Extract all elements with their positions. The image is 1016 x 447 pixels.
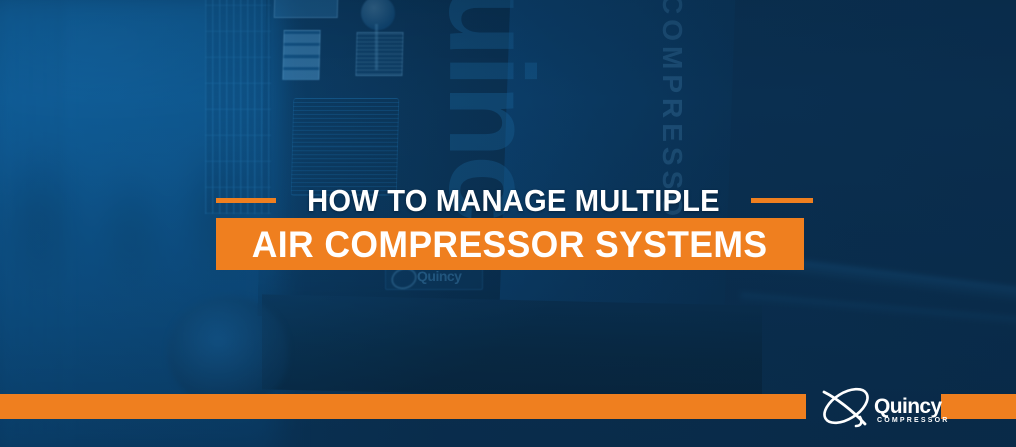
headline-text: HOW TO MANAGE MULTIPLE (307, 185, 720, 216)
logo-wordmark: Quincy (874, 396, 942, 417)
footer-accent-bar-left (0, 394, 806, 419)
headline-row: HOW TO MANAGE MULTIPLE (216, 183, 804, 217)
logo-tagline: COMPRESSOR (877, 417, 950, 424)
headline-rule-right (751, 198, 813, 203)
subtitle-banner: AIR COMPRESSOR SYSTEMS (216, 218, 804, 270)
headline-rule-left (216, 198, 276, 203)
quincy-compressor-logo: Quincy COMPRESSOR (816, 384, 948, 434)
footer-accent-bar-right (941, 394, 1016, 419)
blog-header-banner: uinc COMPRESSO Quincy HOW TO MANAGE MULT… (0, 0, 1016, 447)
subtitle-text: AIR COMPRESSOR SYSTEMS (252, 226, 768, 263)
